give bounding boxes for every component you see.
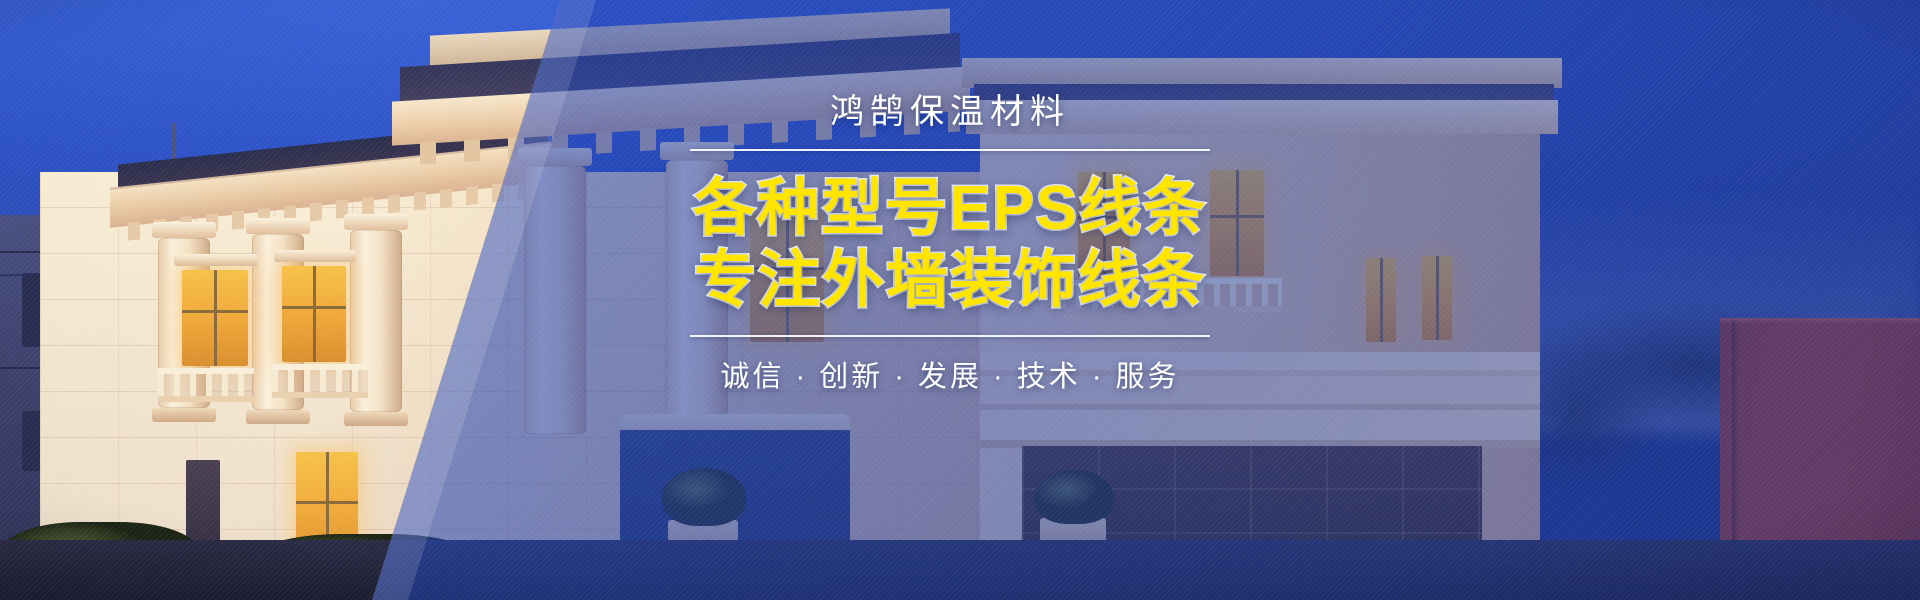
background-window bbox=[22, 411, 42, 471]
window-mullion bbox=[296, 501, 358, 504]
lit-window bbox=[282, 266, 346, 362]
column-base bbox=[152, 408, 216, 422]
column-capital bbox=[344, 214, 408, 230]
window-pediment bbox=[274, 250, 356, 262]
window-mullion bbox=[214, 270, 217, 366]
divider-bottom bbox=[690, 335, 1210, 337]
balustrade bbox=[272, 364, 368, 398]
balustrade bbox=[158, 368, 254, 402]
window-mullion bbox=[313, 266, 316, 362]
brand-name: 鸿鹄保温材料 bbox=[690, 92, 1210, 133]
column-base bbox=[344, 412, 408, 426]
banner-copy-block: 鸿鹄保温材料 各种型号EPS线条 专注外墙装饰线条 诚信 · 创新 · 发展 ·… bbox=[690, 92, 1210, 395]
headline-line-2: 专注外墙装饰线条 bbox=[690, 245, 1210, 317]
window-mullion bbox=[282, 306, 346, 309]
column-capital bbox=[246, 218, 310, 234]
tagline: 诚信 · 创新 · 发展 · 技术 · 服务 bbox=[690, 353, 1210, 395]
headline-line-1: 各种型号EPS线条 bbox=[690, 173, 1210, 245]
column-capital bbox=[152, 222, 216, 238]
window-mullion bbox=[182, 310, 248, 313]
background-window bbox=[22, 273, 42, 347]
headline-block: 各种型号EPS线条 专注外墙装饰线条 bbox=[690, 173, 1210, 317]
divider-top bbox=[690, 149, 1210, 151]
lit-window bbox=[182, 270, 248, 366]
banner-stage: 鸿鹄保温材料 各种型号EPS线条 专注外墙装饰线条 诚信 · 创新 · 发展 ·… bbox=[0, 0, 1920, 600]
window-pediment bbox=[174, 254, 258, 266]
column-base bbox=[246, 410, 310, 424]
